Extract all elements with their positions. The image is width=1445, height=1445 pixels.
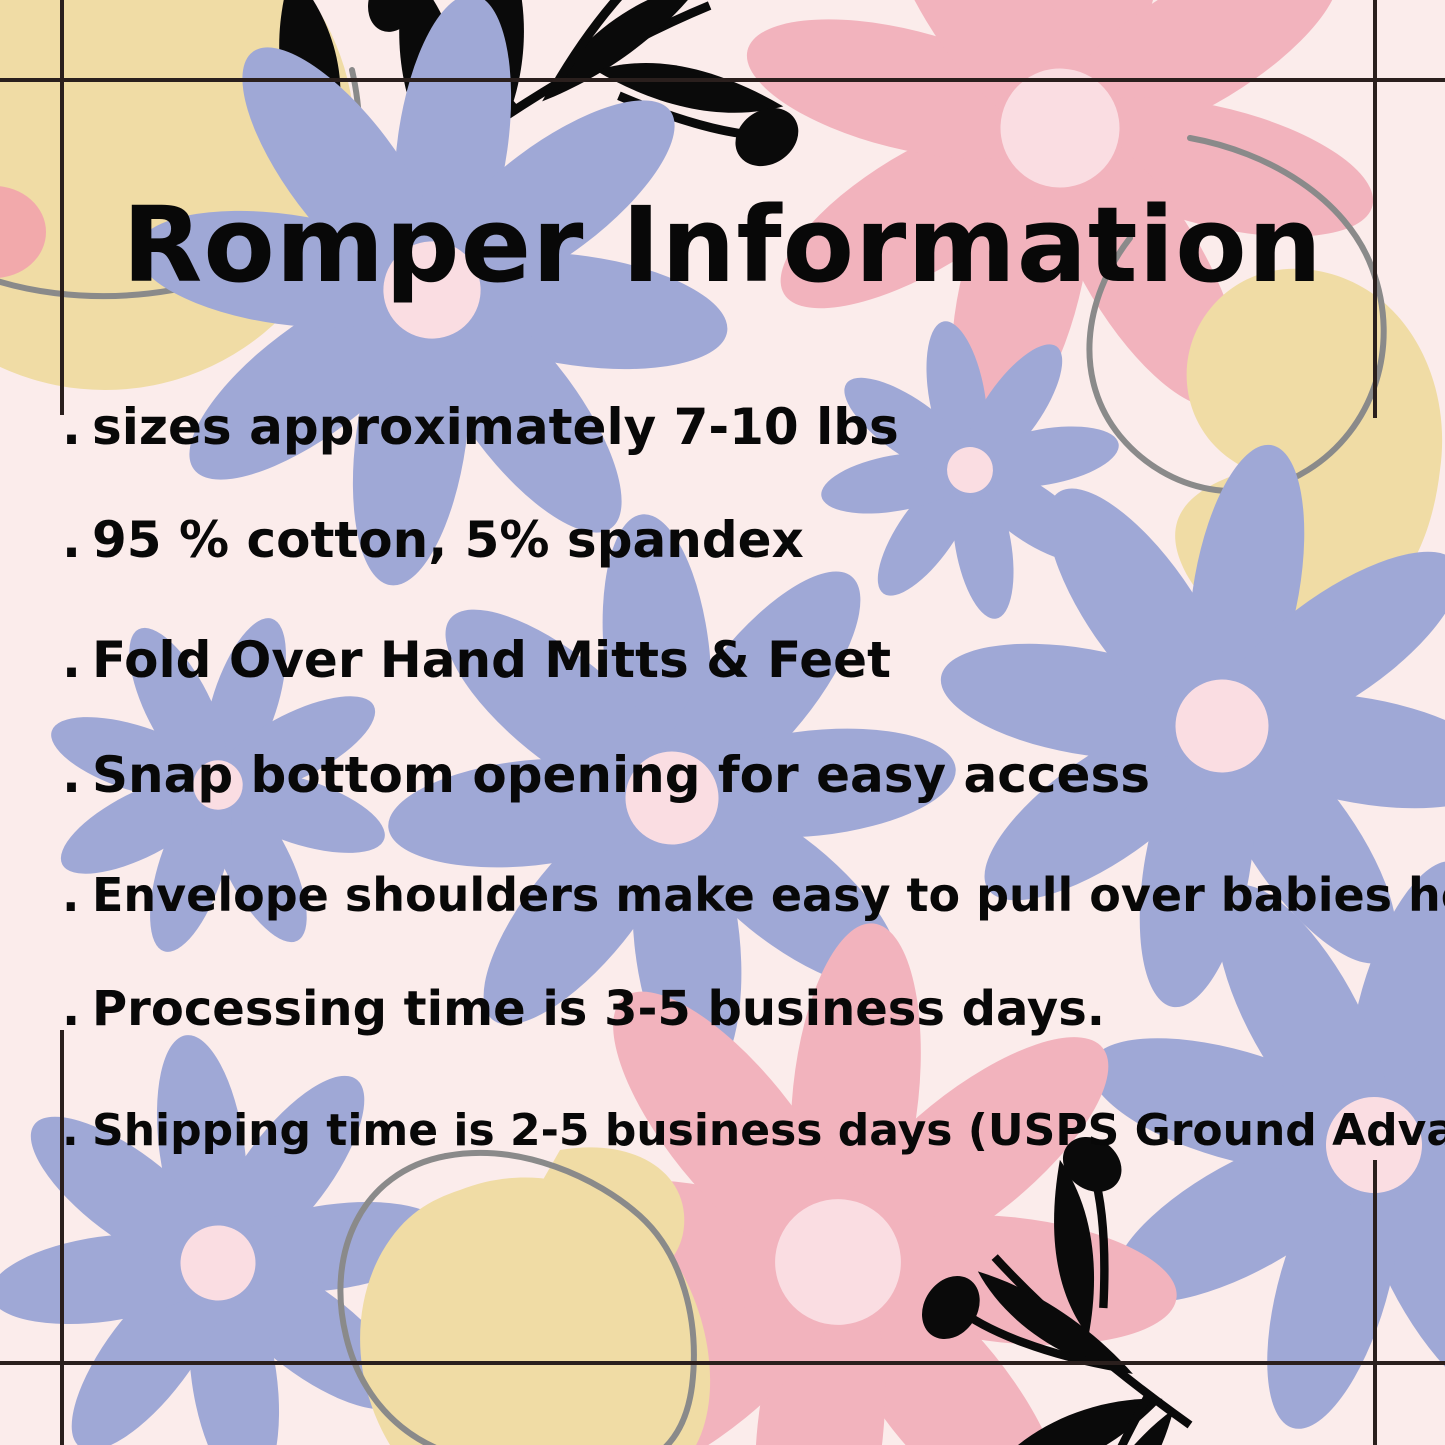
list-item-label: sizes approximately 7-10 lbs — [92, 398, 899, 456]
bullet-marker-icon: . — [62, 1105, 92, 1156]
page-title: Romper Information — [0, 193, 1445, 297]
list-item-label: Fold Over Hand Mitts & Feet — [92, 631, 891, 689]
list-item: . Snap bottom opening for easy access — [62, 746, 1150, 804]
bullet-marker-icon: . — [62, 511, 92, 569]
list-item: . Fold Over Hand Mitts & Feet — [62, 631, 891, 689]
list-item: . 95 % cotton, 5% spandex — [62, 511, 804, 569]
bullet-marker-icon: . — [62, 398, 92, 456]
list-item: . Envelope shoulders make easy to pull o… — [62, 868, 1445, 922]
bullet-marker-icon: . — [62, 868, 92, 922]
list-item: . sizes approximately 7-10 lbs — [62, 398, 899, 456]
list-item-label: Snap bottom opening for easy access — [92, 746, 1150, 804]
list-item-label: Envelope shoulders make easy to pull ove… — [92, 868, 1445, 922]
list-item-label: 95 % cotton, 5% spandex — [92, 511, 804, 569]
bullet-marker-icon: . — [62, 981, 92, 1037]
list-item-label: Processing time is 3-5 business days. — [92, 981, 1105, 1037]
list-item: . Shipping time is 2-5 business days (US… — [62, 1105, 1445, 1156]
list-item-label: Shipping time is 2-5 business days (USPS… — [92, 1105, 1445, 1156]
poster-canvas: Romper Information . sizes approximately… — [0, 0, 1445, 1445]
bullet-marker-icon: . — [62, 746, 92, 804]
list-item: . Processing time is 3-5 business days. — [62, 981, 1105, 1037]
bullet-marker-icon: . — [62, 631, 92, 689]
